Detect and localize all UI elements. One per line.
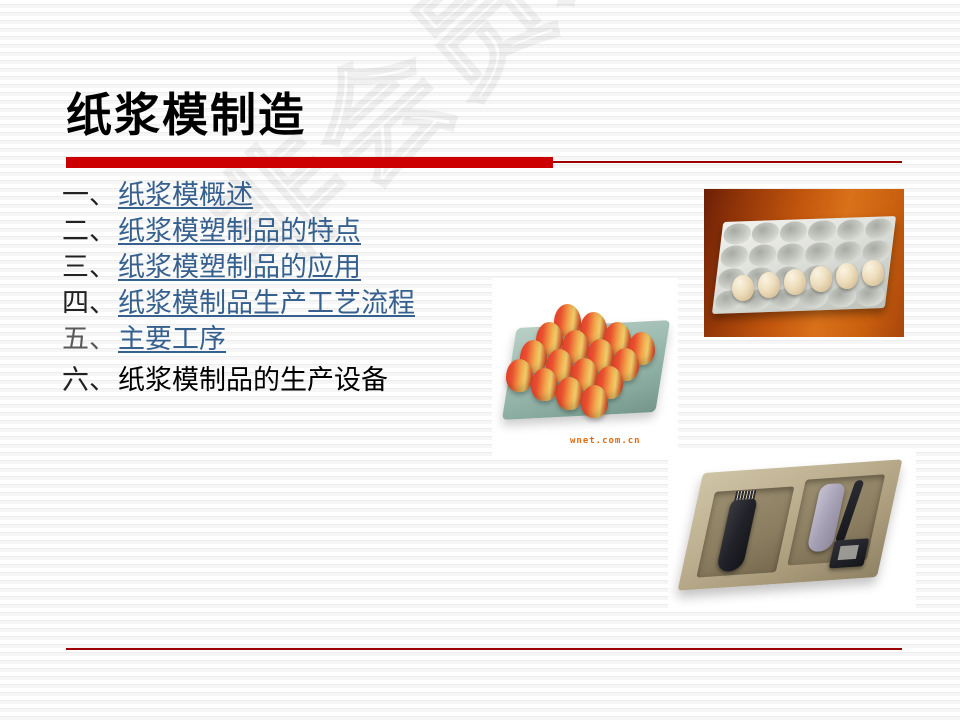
agenda-item-1[interactable]: 一、 纸浆模概述 bbox=[62, 182, 532, 209]
agenda-item-3[interactable]: 三、 纸浆模塑制品的应用 bbox=[62, 254, 532, 281]
agenda-item-1-label[interactable]: 纸浆模概述 bbox=[118, 182, 253, 209]
peach bbox=[531, 368, 558, 401]
photo-clipper-packaging bbox=[668, 450, 916, 612]
tray-cell bbox=[836, 219, 866, 241]
tray-cell bbox=[833, 241, 863, 263]
footer-rule bbox=[66, 648, 902, 650]
tray-cell bbox=[861, 240, 891, 262]
agenda-item-4-label[interactable]: 纸浆模制品生产工艺流程 bbox=[118, 290, 415, 317]
tray-cell bbox=[748, 244, 778, 266]
agenda-item-2-label[interactable]: 纸浆模塑制品的特点 bbox=[118, 218, 361, 245]
egg bbox=[758, 272, 780, 298]
egg bbox=[836, 263, 858, 289]
photo-fruit-tray: wnet.com.cn bbox=[492, 278, 678, 460]
tray-cell bbox=[856, 285, 886, 307]
slide-canvas: 非会员水印 纸浆模制造 一、 纸浆模概述 二、 纸浆模塑制品的特点 三、 纸浆模… bbox=[0, 0, 960, 720]
agenda-item-4-number: 四、 bbox=[62, 290, 116, 317]
tray-cell bbox=[776, 243, 806, 265]
title-rule-thick bbox=[66, 157, 553, 168]
tray-cell bbox=[722, 223, 752, 245]
agenda-item-6-label: 纸浆模制品的生产设备 bbox=[118, 367, 388, 394]
egg bbox=[732, 275, 754, 301]
agenda-item-6: 六、 纸浆模制品的生产设备 bbox=[62, 367, 532, 394]
agenda-item-2[interactable]: 二、 纸浆模塑制品的特点 bbox=[62, 218, 532, 245]
egg bbox=[784, 269, 806, 295]
agenda-item-3-number: 三、 bbox=[62, 254, 116, 281]
peach bbox=[556, 377, 583, 410]
tray-cell bbox=[779, 221, 809, 243]
egg bbox=[862, 260, 884, 286]
agenda-item-2-number: 二、 bbox=[62, 218, 116, 245]
tray-cell bbox=[827, 286, 857, 308]
tray-cell bbox=[864, 218, 894, 240]
agenda-item-5[interactable]: 五、 主要工序 bbox=[62, 326, 532, 353]
image-watermark: wnet.com.cn bbox=[570, 436, 641, 446]
peach bbox=[581, 385, 608, 418]
photo-egg-tray bbox=[704, 189, 904, 337]
tray-cell bbox=[805, 242, 835, 264]
tray-cell bbox=[720, 245, 750, 267]
agenda-list: 一、 纸浆模概述 二、 纸浆模塑制品的特点 三、 纸浆模塑制品的应用 四、 纸浆… bbox=[62, 182, 532, 405]
agenda-item-4[interactable]: 四、 纸浆模制品生产工艺流程 bbox=[62, 290, 532, 317]
egg bbox=[810, 266, 832, 292]
tray-cell bbox=[751, 222, 781, 244]
agenda-item-5-label[interactable]: 主要工序 bbox=[118, 326, 226, 353]
agenda-item-6-number: 六、 bbox=[62, 367, 116, 394]
agenda-item-1-number: 一、 bbox=[62, 182, 116, 209]
agenda-item-5-number: 五、 bbox=[62, 326, 116, 353]
agenda-item-3-label[interactable]: 纸浆模塑制品的应用 bbox=[118, 254, 361, 281]
peach bbox=[506, 359, 533, 392]
page-title: 纸浆模制造 bbox=[66, 92, 306, 138]
pulp-package-shape bbox=[678, 459, 903, 590]
tray-cell bbox=[807, 220, 837, 242]
power-adapter bbox=[829, 538, 870, 568]
